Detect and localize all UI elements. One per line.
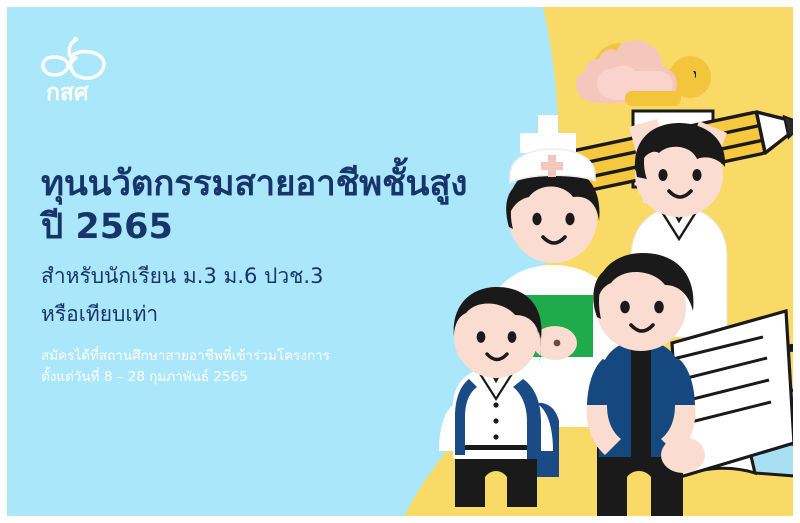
subheading-line-1: สำหรับนักเรียน ม.3 ม.6 ปวช.3 (41, 262, 491, 292)
headline-line-1: ทุนนวัตกรรมสายอาชีพชั้นสูง (41, 163, 491, 206)
poster-copy: ทุนนวัตกรรมสายอาชีพชั้นสูง ปี 2565 สำหรั… (41, 163, 491, 388)
poster-root: กสศ ทุนนวัตกรรมสายอาชีพชั้นสูง ปี 2565 ส… (0, 0, 800, 523)
details-line-1: สมัครได้ที่สถานศึกษาสายอาชีพที่เข้าร่วมโ… (41, 346, 491, 367)
details-line-2: ตั้งแต่วันที่ 8 – 28 กุมภาพันธ์ 2565 (41, 367, 491, 388)
poster-canvas: กสศ ทุนนวัตกรรมสายอาชีพชั้นสูง ปี 2565 ส… (7, 7, 793, 516)
subheading-line-2: หรือเทียบเท่า (41, 300, 491, 330)
brand-logo-text: กสศ (46, 80, 89, 104)
headline-line-2: ปี 2565 (41, 206, 491, 249)
brand-logo: กสศ (34, 32, 129, 104)
butterfly-infinity-logo-icon: กสศ (34, 32, 129, 104)
